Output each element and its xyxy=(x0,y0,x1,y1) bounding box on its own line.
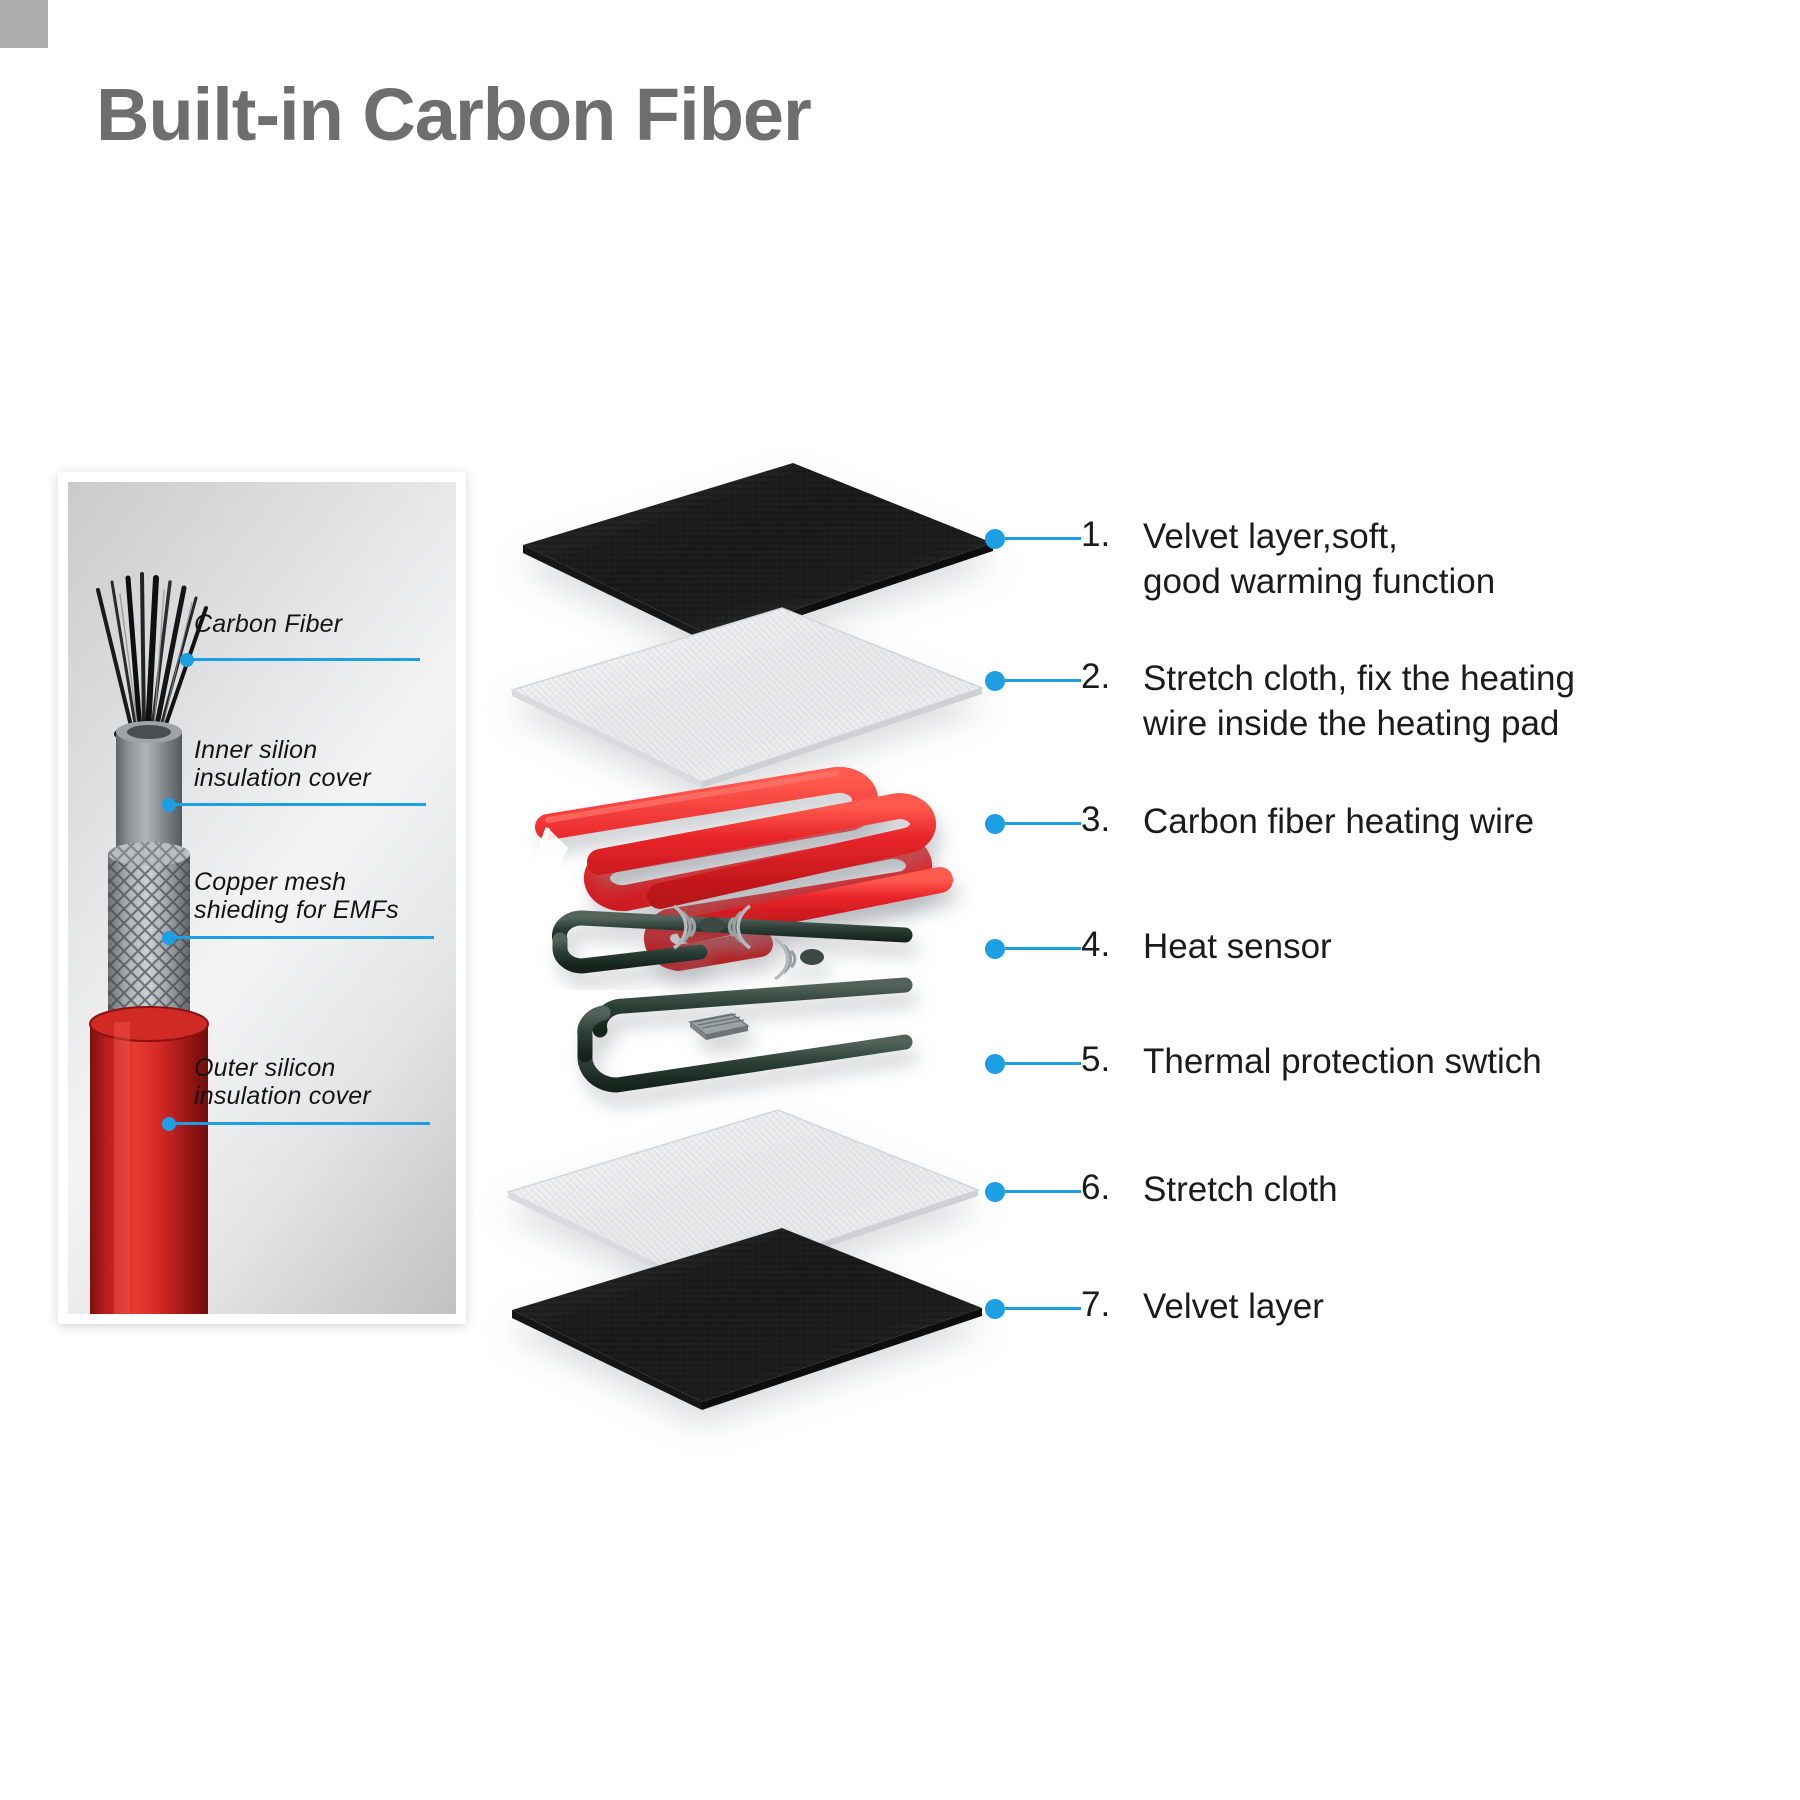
callout-leader-2 xyxy=(1005,679,1081,682)
callout-dot-6 xyxy=(985,1182,1005,1202)
callout-3[interactable]: 3. Carbon fiber heating wire xyxy=(985,800,1534,845)
callout-text-5: Thermal protection swtich xyxy=(1143,1040,1542,1085)
callout-dot-7 xyxy=(985,1299,1005,1319)
callout-number-6: 6. xyxy=(1081,1168,1143,1208)
callout-leader-7 xyxy=(1005,1307,1081,1310)
callout-4[interactable]: 4. Heat sensor xyxy=(985,925,1332,970)
callout-dot-5 xyxy=(985,1054,1005,1074)
callout-text-7: Velvet layer xyxy=(1143,1285,1324,1330)
callout-dot-4 xyxy=(985,939,1005,959)
callout-dot-1 xyxy=(985,529,1005,549)
callout-1[interactable]: 1. Velvet layer,soft, good warming funct… xyxy=(985,515,1495,605)
callout-number-1: 1. xyxy=(1081,515,1143,555)
callout-6[interactable]: 6. Stretch cloth xyxy=(985,1168,1338,1213)
callout-number-7: 7. xyxy=(1081,1285,1143,1325)
callout-text-4: Heat sensor xyxy=(1143,925,1332,970)
callout-leader-4 xyxy=(1005,947,1081,950)
callout-leader-5 xyxy=(1005,1062,1081,1065)
callout-number-2: 2. xyxy=(1081,657,1143,697)
callout-7[interactable]: 7. Velvet layer xyxy=(985,1285,1324,1330)
callout-leader-6 xyxy=(1005,1190,1081,1193)
callout-text-2: Stretch cloth, fix the heating wire insi… xyxy=(1143,657,1575,747)
diagram-canvas: Built-in Carbon Fiber xyxy=(0,0,1800,1800)
callout-5[interactable]: 5. Thermal protection swtich xyxy=(985,1040,1542,1085)
callout-list: 1. Velvet layer,soft, good warming funct… xyxy=(0,0,1800,1800)
callout-number-3: 3. xyxy=(1081,800,1143,840)
callout-text-3: Carbon fiber heating wire xyxy=(1143,800,1534,845)
callout-leader-3 xyxy=(1005,822,1081,825)
callout-text-1: Velvet layer,soft, good warming function xyxy=(1143,515,1495,605)
callout-2[interactable]: 2. Stretch cloth, fix the heating wire i… xyxy=(985,657,1575,747)
callout-number-4: 4. xyxy=(1081,925,1143,965)
callout-dot-3 xyxy=(985,814,1005,834)
callout-dot-2 xyxy=(985,671,1005,691)
callout-text-6: Stretch cloth xyxy=(1143,1168,1338,1213)
callout-leader-1 xyxy=(1005,537,1081,540)
callout-number-5: 5. xyxy=(1081,1040,1143,1080)
